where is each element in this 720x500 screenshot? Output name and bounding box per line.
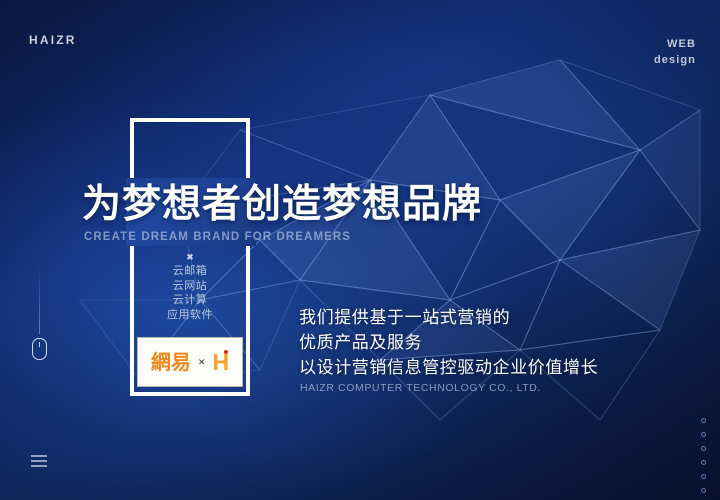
hamburger-bar: [31, 460, 47, 462]
list-item[interactable]: 云邮箱: [130, 264, 250, 279]
logo-separator-icon: ✕: [198, 358, 206, 367]
body-copy: 我们提供基于一站式营销的 优质产品及服务 以设计营销信息管控驱动企业价值增长: [299, 305, 598, 380]
card-divider-mark: ✖: [130, 252, 250, 262]
body-copy-line: 以设计营销信息管控驱动企业价值增长: [299, 355, 598, 380]
pagination-dot[interactable]: [701, 446, 706, 451]
hero-subheadline: CREATE DREAM BRAND FOR DREAMERS: [84, 231, 351, 243]
scroll-rail-line: [39, 268, 40, 334]
slide-pagination[interactable]: [701, 418, 706, 493]
hamburger-bar: [31, 455, 47, 457]
body-copy-line: 我们提供基于一站式营销的: [299, 305, 598, 330]
background-vignette: [0, 0, 720, 500]
haizr-logo-mark: H: [212, 351, 229, 374]
hamburger-menu-icon[interactable]: [31, 455, 47, 467]
pagination-dot[interactable]: [701, 460, 706, 465]
logo-red-dot-icon: [224, 350, 228, 354]
list-item[interactable]: 云网站: [130, 279, 250, 294]
hamburger-bar: [31, 465, 47, 467]
hero-slide: HAIZR WEB design 为梦想者创造梦想品牌 CREATE DREAM…: [0, 0, 720, 500]
mouse-scroll-icon[interactable]: [32, 338, 47, 360]
header-tagline: WEB design: [654, 36, 696, 68]
page-title: HAIZR: [29, 33, 77, 47]
body-copy-line: 优质产品及服务: [299, 330, 598, 355]
hero-headline: 为梦想者创造梦想品牌: [82, 183, 482, 227]
service-list: 云邮箱 云网站 云计算 应用软件: [130, 264, 250, 322]
header-tagline-line-2: design: [654, 52, 696, 68]
header-tagline-line-1: WEB: [654, 36, 696, 52]
company-name-en: HAIZR COMPUTER TECHNOLOGY CO., LTD.: [300, 382, 541, 394]
list-item[interactable]: 应用软件: [130, 308, 250, 323]
pagination-dot[interactable]: [701, 474, 706, 479]
partner-logo-box: 網易 ✕ H: [137, 337, 243, 387]
pagination-dot[interactable]: [701, 432, 706, 437]
list-item[interactable]: 云计算: [130, 293, 250, 308]
netease-logo: 網易: [151, 352, 191, 372]
pagination-dot[interactable]: [701, 488, 706, 493]
pagination-dot[interactable]: [701, 418, 706, 423]
